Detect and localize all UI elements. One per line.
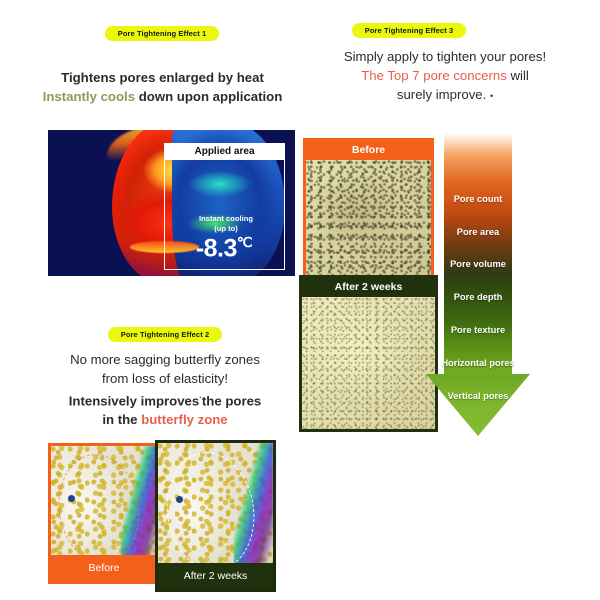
pore-panel-before-image xyxy=(306,160,431,275)
effect-1-line-1: Tightens pores enlarged by heat xyxy=(30,68,295,87)
pore-panel-after-image xyxy=(302,297,435,429)
infographic-canvas: Pore Tightening Effect 1 Tightens pores … xyxy=(0,0,600,600)
butterfly-panel-after: After 2 weeks xyxy=(155,440,276,592)
effect-2-line-3: Intensively improves·the pores xyxy=(30,388,300,410)
effect-1-line-2-rest: down upon application xyxy=(135,89,282,104)
effect-2-line-4-highlight: butterfly zone xyxy=(141,412,227,427)
temperature-value: -8.3 xyxy=(196,234,237,262)
effect-3-line-3-text: surely improve. xyxy=(397,87,486,102)
instant-cooling-line-2: (up to) xyxy=(172,224,280,234)
effect-3-line-2: The Top 7 pore concerns will xyxy=(300,66,590,85)
effect-1-headline: Tightens pores enlarged by heat Instantl… xyxy=(30,68,295,106)
badge-effect-2: Pore Tightening Effect 2 xyxy=(108,327,222,342)
effect-2-line-3-a: Intensively improves xyxy=(69,393,199,408)
pore-concerns-arrow: Pore count Pore area Pore volume Pore de… xyxy=(444,133,534,436)
badge-effect-3: Pore Tightening Effect 3 xyxy=(352,23,466,38)
pore-panel-before-label: Before xyxy=(306,141,431,160)
arrow-label-list: Pore count Pore area Pore volume Pore de… xyxy=(444,149,552,397)
thermal-face-image: Applied area Instant cooling (up to) -8.… xyxy=(48,130,295,276)
effect-3-line-3: surely improve. • xyxy=(300,85,590,106)
pore-panel-before: Before xyxy=(303,138,434,278)
arrow-item-vertical-pores: Vertical pores xyxy=(433,391,523,401)
butterfly-before-label: Before xyxy=(51,555,157,581)
applied-area-label: Applied area xyxy=(164,143,285,160)
effect-2-line-1: No more sagging butterfly zones xyxy=(30,350,300,369)
effect-3-footnote-mark: • xyxy=(490,91,493,101)
temperature-value-group: -8.3℃ xyxy=(168,234,280,263)
arrow-item-pore-depth: Pore depth xyxy=(433,292,523,302)
instant-cooling-line-1: Instant cooling xyxy=(172,214,280,224)
pore-panel-after-label: After 2 weeks xyxy=(302,278,435,297)
effect-2-line-3-b: the pores xyxy=(202,393,261,408)
pore-panel-after: After 2 weeks xyxy=(299,275,438,432)
effect-2-line-4-a: in the xyxy=(102,412,141,427)
butterfly-after-label: After 2 weeks xyxy=(158,563,273,589)
arrow-item-pore-area: Pore area xyxy=(433,227,523,237)
instant-cooling-label: Instant cooling (up to) xyxy=(172,214,280,234)
effect-1-line-2: Instantly cools down upon application xyxy=(30,87,295,106)
temperature-unit: ℃ xyxy=(237,234,252,250)
butterfly-panel-before: Before xyxy=(48,443,160,584)
effect-2-line-4: in the butterfly zone xyxy=(30,410,300,429)
arrow-item-pore-texture: Pore texture xyxy=(433,325,523,335)
arrow-item-pore-volume: Pore volume xyxy=(433,259,523,269)
arrow-item-horizontal-pores: Horizontal pores xyxy=(433,358,523,368)
badge-effect-1: Pore Tightening Effect 1 xyxy=(105,26,219,41)
effect-2-headline: No more sagging butterfly zones from los… xyxy=(30,350,300,429)
effect-3-line-2-rest: will xyxy=(507,68,529,83)
effect-1-line-2-highlight: Instantly cools xyxy=(43,89,135,104)
effect-3-line-1: Simply apply to tighten your pores! xyxy=(300,47,590,66)
arrow-item-pore-count: Pore count xyxy=(433,194,523,204)
effect-3-line-2-highlight: The Top 7 pore concerns xyxy=(361,68,507,83)
effect-2-line-2: from loss of elasticity! xyxy=(30,369,300,388)
effect-3-headline: Simply apply to tighten your pores! The … xyxy=(300,47,590,106)
